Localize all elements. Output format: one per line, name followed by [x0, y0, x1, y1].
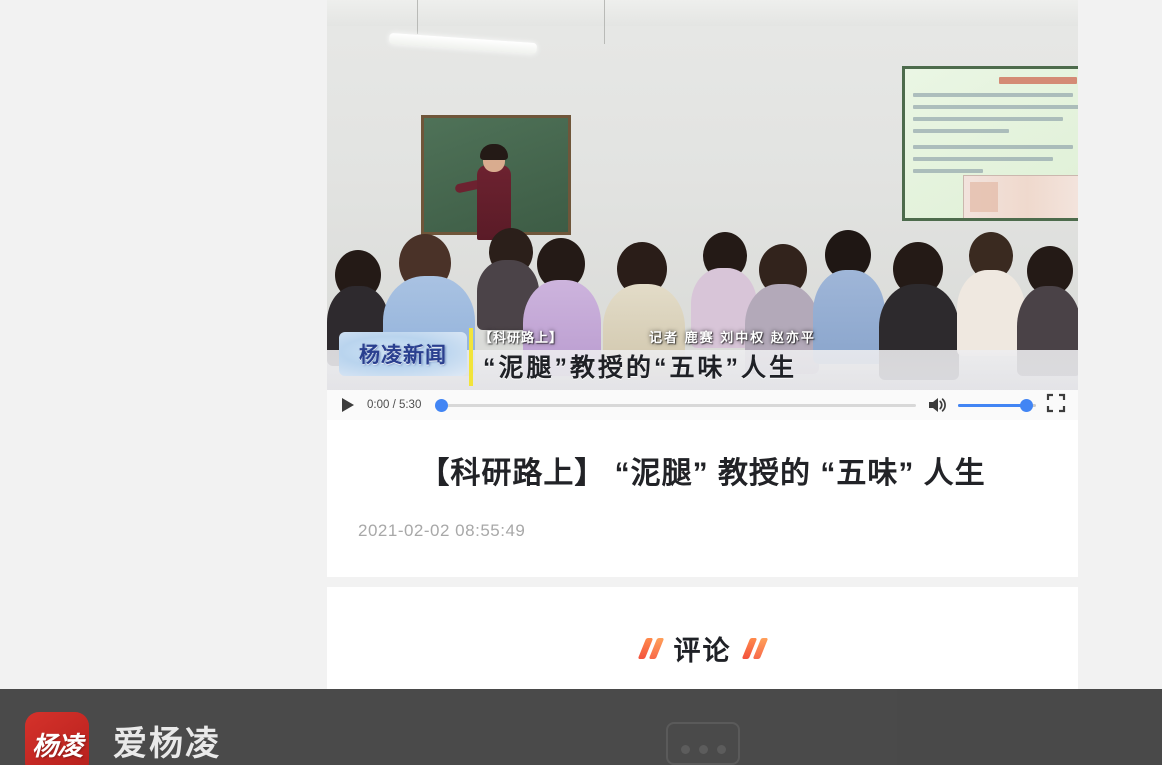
progress-bar[interactable] — [433, 395, 916, 415]
video-credit: 记者 鹿赛 刘中权 赵亦平 — [649, 327, 816, 346]
volume-button[interactable] — [924, 392, 950, 418]
ceiling — [327, 0, 1078, 26]
loading-placeholder — [666, 722, 740, 765]
slide-line — [913, 145, 1073, 149]
loading-dot — [681, 745, 690, 754]
bar-right-panel — [897, 689, 1162, 765]
slash-decoration-right — [746, 638, 764, 659]
slide-line — [913, 105, 1078, 109]
slide-line — [913, 169, 983, 173]
publish-date: 2021-02-02 08:55:49 — [327, 495, 1078, 541]
player-controls: 0:00 / 5:30 — [327, 390, 1078, 420]
app-logo-text: 杨凌 — [32, 726, 82, 763]
app-logo-icon[interactable]: 杨凌 — [25, 712, 89, 765]
station-logo: 杨凌新闻 — [339, 332, 467, 376]
slide-title — [999, 77, 1077, 84]
video-player[interactable]: 杨凌新闻 【科研路上】 记者 鹿赛 刘中权 赵亦平 “泥腿”教授的“五味”人生 — [327, 0, 1078, 390]
video-frame: 杨凌新闻 【科研路上】 记者 鹿赛 刘中权 赵亦平 “泥腿”教授的“五味”人生 — [327, 0, 1078, 390]
slash-decoration-left — [642, 638, 660, 659]
card-gap — [327, 577, 1078, 587]
time-display: 0:00 / 5:30 — [367, 399, 421, 411]
comment-title: 评论 — [674, 629, 732, 668]
slide-line — [913, 117, 1063, 121]
slide-line — [913, 93, 1073, 97]
video-headline: “泥腿”教授的“五味”人生 — [483, 348, 797, 384]
lower-third-divider — [469, 328, 473, 386]
progress-handle[interactable] — [435, 399, 448, 412]
slide-figure — [963, 175, 1078, 219]
app-name-label: 爱杨凌 — [113, 716, 221, 765]
play-button[interactable] — [335, 392, 361, 418]
slide-line — [913, 129, 1009, 133]
progress-track — [447, 404, 916, 407]
fullscreen-button[interactable] — [1046, 393, 1070, 417]
article-card: 杨凌新闻 【科研路上】 记者 鹿赛 刘中权 赵亦平 “泥腿”教授的“五味”人生 … — [327, 0, 1078, 577]
teacher-hair — [480, 144, 508, 160]
broadcast-lower-third: 杨凌新闻 【科研路上】 记者 鹿赛 刘中权 赵亦平 “泥腿”教授的“五味”人生 — [327, 324, 1078, 390]
volume-handle[interactable] — [1020, 399, 1033, 412]
station-logo-text: 杨凌新闻 — [359, 339, 447, 369]
volume-icon — [927, 396, 947, 414]
comment-header: 评论 — [327, 587, 1078, 668]
play-icon — [342, 398, 354, 412]
slide-line — [913, 157, 1053, 161]
loading-dot — [717, 745, 726, 754]
article-spacer — [327, 541, 1078, 573]
projection-screen — [902, 66, 1078, 221]
volume-slider[interactable] — [958, 395, 1036, 415]
light-wire-2 — [604, 0, 605, 44]
content-column: 杨凌新闻 【科研路上】 记者 鹿赛 刘中权 赵亦平 “泥腿”教授的“五味”人生 … — [327, 0, 1078, 722]
loading-dot — [699, 745, 708, 754]
page-root: 杨凌新闻 【科研路上】 记者 鹿赛 刘中权 赵亦平 “泥腿”教授的“五味”人生 … — [0, 0, 1162, 765]
video-kicker: 【科研路上】 — [479, 327, 563, 346]
page-title: 【科研路上】 “泥腿” 教授的 “五味” 人生 — [327, 420, 1078, 495]
light-wire-1 — [417, 0, 418, 34]
volume-fill — [958, 404, 1026, 407]
fullscreen-icon — [1046, 393, 1066, 413]
